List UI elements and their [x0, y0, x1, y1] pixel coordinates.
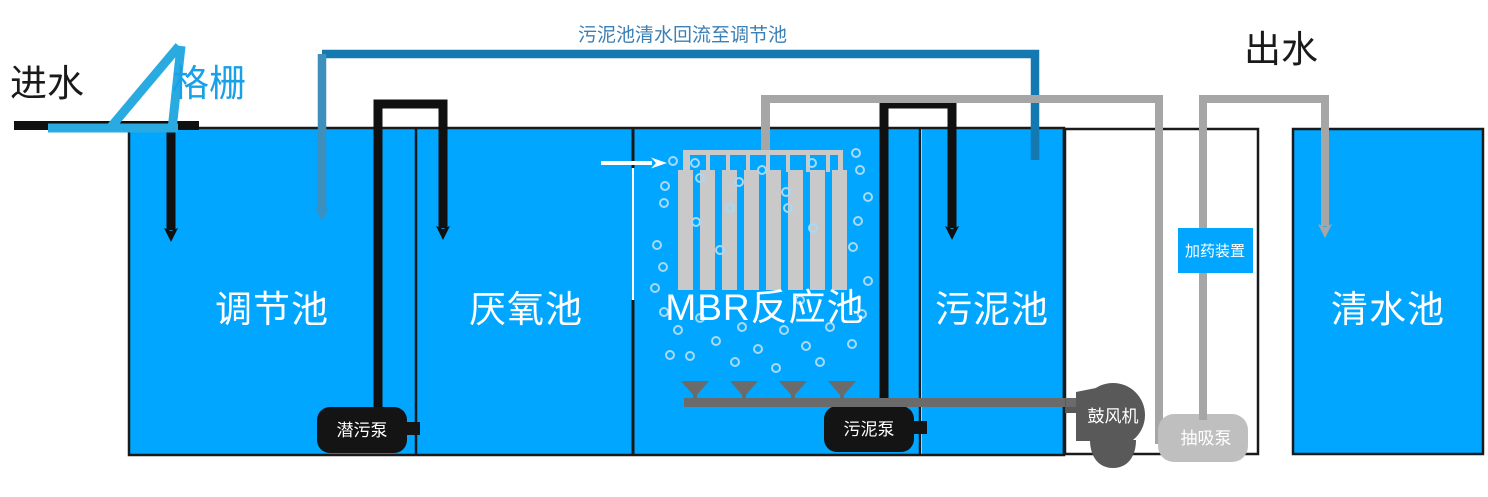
label-inlet: 进水 — [10, 63, 84, 104]
suction-pump[interactable]: 抽吸泵 — [1158, 414, 1248, 462]
tank-label-anaerobic: 厌氧池 — [469, 289, 583, 330]
label-grille: 格栅 — [172, 63, 246, 104]
label-outlet: 出水 — [1244, 29, 1318, 70]
blower-label: 鼓风机 — [1088, 407, 1139, 426]
tank-label-clearwater: 清水池 — [1331, 289, 1445, 330]
tank-label-equalization: 调节池 — [215, 289, 329, 330]
grille-bar — [110, 46, 179, 128]
suction-pump-label: 抽吸泵 — [1181, 429, 1232, 448]
sludge-pump[interactable]: 污泥泵 — [824, 406, 927, 452]
dosing-device[interactable]: 加药装置 — [1178, 228, 1253, 273]
submersible-pump[interactable]: 潜污泵 — [317, 407, 420, 453]
sludge-pump-label: 污泥泵 — [844, 420, 895, 439]
wastewater-process-diagram: 进水 格栅 污泥池清水回流至调节池 潜污泵 污泥泵 — [0, 0, 1488, 497]
tank-label-sludge: 污泥池 — [935, 289, 1049, 330]
dosing-device-label: 加药装置 — [1185, 243, 1245, 260]
process-diagram-canvas: 进水 格栅 污泥池清水回流至调节池 潜污泵 污泥泵 — [0, 0, 1488, 497]
blower-air-connection — [1066, 398, 1076, 407]
label-return-note: 污泥池清水回流至调节池 — [578, 24, 787, 46]
submersible-pump-label: 潜污泵 — [337, 421, 388, 440]
tank-label-mbr: MBR反应池 — [665, 287, 864, 328]
